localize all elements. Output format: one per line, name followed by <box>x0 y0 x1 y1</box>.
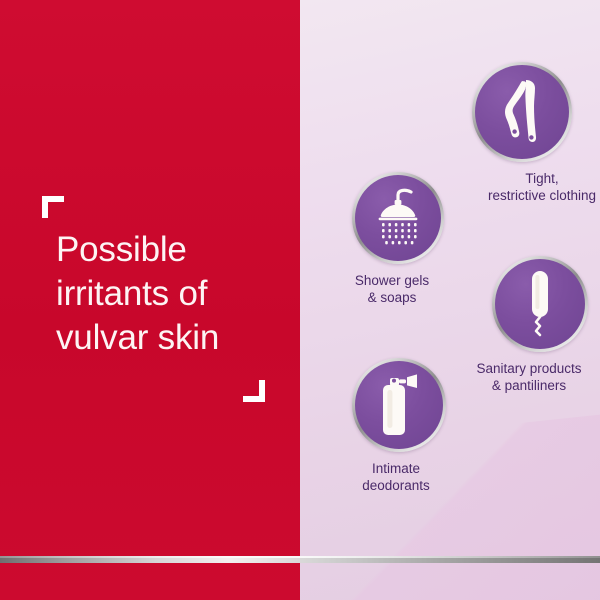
badge-disc <box>475 65 569 159</box>
badge-ring <box>472 62 572 162</box>
divider-gloss <box>0 556 600 558</box>
spray-can-icon <box>371 373 427 437</box>
badge-ring <box>352 172 444 264</box>
silver-divider-bar <box>0 556 600 563</box>
infographic-canvas: Possible irritants of vulvar skin <box>0 0 600 600</box>
item-label: Shower gels & soaps <box>312 272 472 306</box>
item-tight-clothing: Tight, restrictive clothing <box>468 62 600 204</box>
badge-disc <box>355 361 443 449</box>
shower-head-icon <box>367 187 429 249</box>
bracket-vertical-stroke <box>259 380 265 402</box>
legs-trousers-icon <box>496 79 548 145</box>
page-title: Possible irritants of vulvar skin <box>56 228 288 360</box>
badge-ring <box>352 358 446 452</box>
badge-disc <box>495 259 585 349</box>
badge-disc <box>355 175 441 261</box>
tampon-icon <box>522 269 558 339</box>
corner-bracket-bottom-right-icon <box>243 380 265 402</box>
item-label: Tight, restrictive clothing <box>462 170 600 204</box>
corner-bracket-top-left-icon <box>42 196 64 218</box>
item-intimate-deodorants: Intimate deodorants <box>320 358 480 494</box>
badge-ring <box>492 256 588 352</box>
item-label: Intimate deodorants <box>316 460 476 494</box>
bracket-vertical-stroke <box>42 196 48 218</box>
left-red-panel: Possible irritants of vulvar skin <box>0 0 300 600</box>
